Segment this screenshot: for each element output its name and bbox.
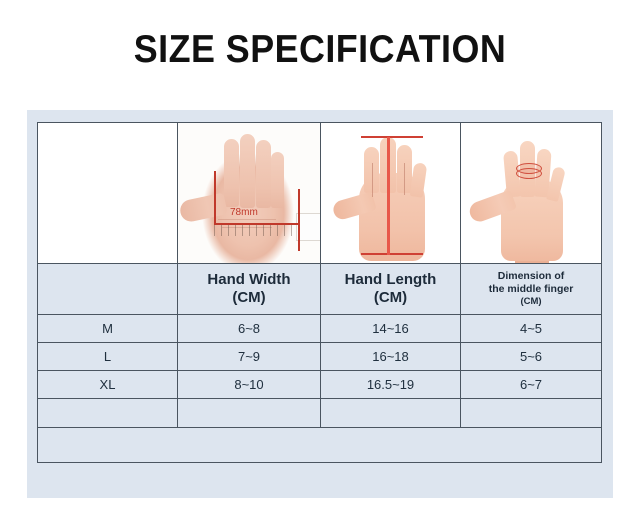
measure-line-vertical xyxy=(387,137,390,255)
header-hand-length-unit: (CM) xyxy=(321,289,460,307)
cell-hand-width: 8~10 xyxy=(178,371,321,399)
measure-line-horizontal xyxy=(214,223,300,225)
illustration-row: 78mm xyxy=(38,123,602,264)
size-specification-table: 78mm xyxy=(37,122,602,463)
tail-cell xyxy=(38,428,602,463)
table-row: M 6~8 14~16 4~5 xyxy=(38,315,602,343)
index-finger xyxy=(224,139,239,207)
table-row: L 7~9 16~18 5~6 xyxy=(38,343,602,371)
cell-hand-width: 6~8 xyxy=(178,315,321,343)
header-middle-finger-unit: (CM) xyxy=(461,296,601,308)
palm-crease xyxy=(218,219,276,220)
measure-marker-left xyxy=(214,171,216,225)
middle-finger xyxy=(240,134,255,208)
measure-marker-right xyxy=(298,189,300,251)
finger-crease xyxy=(372,163,373,197)
header-middle-finger: Dimension of the middle finger (CM) xyxy=(461,264,602,315)
table-row: XL 8~10 16.5~19 6~7 xyxy=(38,371,602,399)
finger-crease xyxy=(404,163,405,195)
header-middle-finger-line2: the middle finger xyxy=(461,283,601,296)
hand-width-image-cell: 78mm xyxy=(178,123,321,264)
header-hand-length-label: Hand Length xyxy=(321,271,460,289)
little-finger xyxy=(271,152,284,208)
table-header-row: Hand Width (CM) Hand Length (CM) Dimensi… xyxy=(38,264,602,315)
header-hand-width: Hand Width (CM) xyxy=(178,264,321,315)
cell-middle-finger: 4~5 xyxy=(461,315,602,343)
ring-measure-icon xyxy=(516,168,542,179)
ring-finger xyxy=(256,140,271,208)
ruler-icon xyxy=(214,225,304,236)
cell-size: XL xyxy=(38,371,178,399)
empty-cell xyxy=(178,399,321,428)
middle-finger-image-cell xyxy=(461,123,602,264)
cell-size: M xyxy=(38,315,178,343)
cell-hand-length: 16.5~19 xyxy=(321,371,461,399)
empty-cell xyxy=(38,399,178,428)
hand-width-photo: 78mm xyxy=(178,123,320,263)
cell-hand-length: 16~18 xyxy=(321,343,461,371)
header-hand-length: Hand Length (CM) xyxy=(321,264,461,315)
header-size-cell xyxy=(38,264,178,315)
header-hand-width-unit: (CM) xyxy=(178,289,320,307)
hand-length-image-cell xyxy=(321,123,461,264)
empty-cell xyxy=(461,399,602,428)
cell-middle-finger: 6~7 xyxy=(461,371,602,399)
measure-marker-top xyxy=(361,136,423,138)
measure-marker-bottom xyxy=(361,253,423,255)
empty-cell xyxy=(321,399,461,428)
page-title: SIZE SPECIFICATION xyxy=(26,28,615,72)
middle-finger-ring-diagram xyxy=(461,123,601,263)
table-tail-row xyxy=(38,428,602,463)
hand-length-diagram xyxy=(321,123,460,263)
measure-value-label: 78mm xyxy=(230,207,258,218)
cell-hand-width: 7~9 xyxy=(178,343,321,371)
spec-panel: 78mm xyxy=(27,110,613,498)
illustration-blank-cell xyxy=(38,123,178,264)
table-empty-row xyxy=(38,399,602,428)
cell-size: L xyxy=(38,343,178,371)
cell-hand-length: 14~16 xyxy=(321,315,461,343)
header-hand-width-label: Hand Width xyxy=(178,271,320,289)
cell-middle-finger: 5~6 xyxy=(461,343,602,371)
header-middle-finger-line1: Dimension of xyxy=(461,270,601,283)
